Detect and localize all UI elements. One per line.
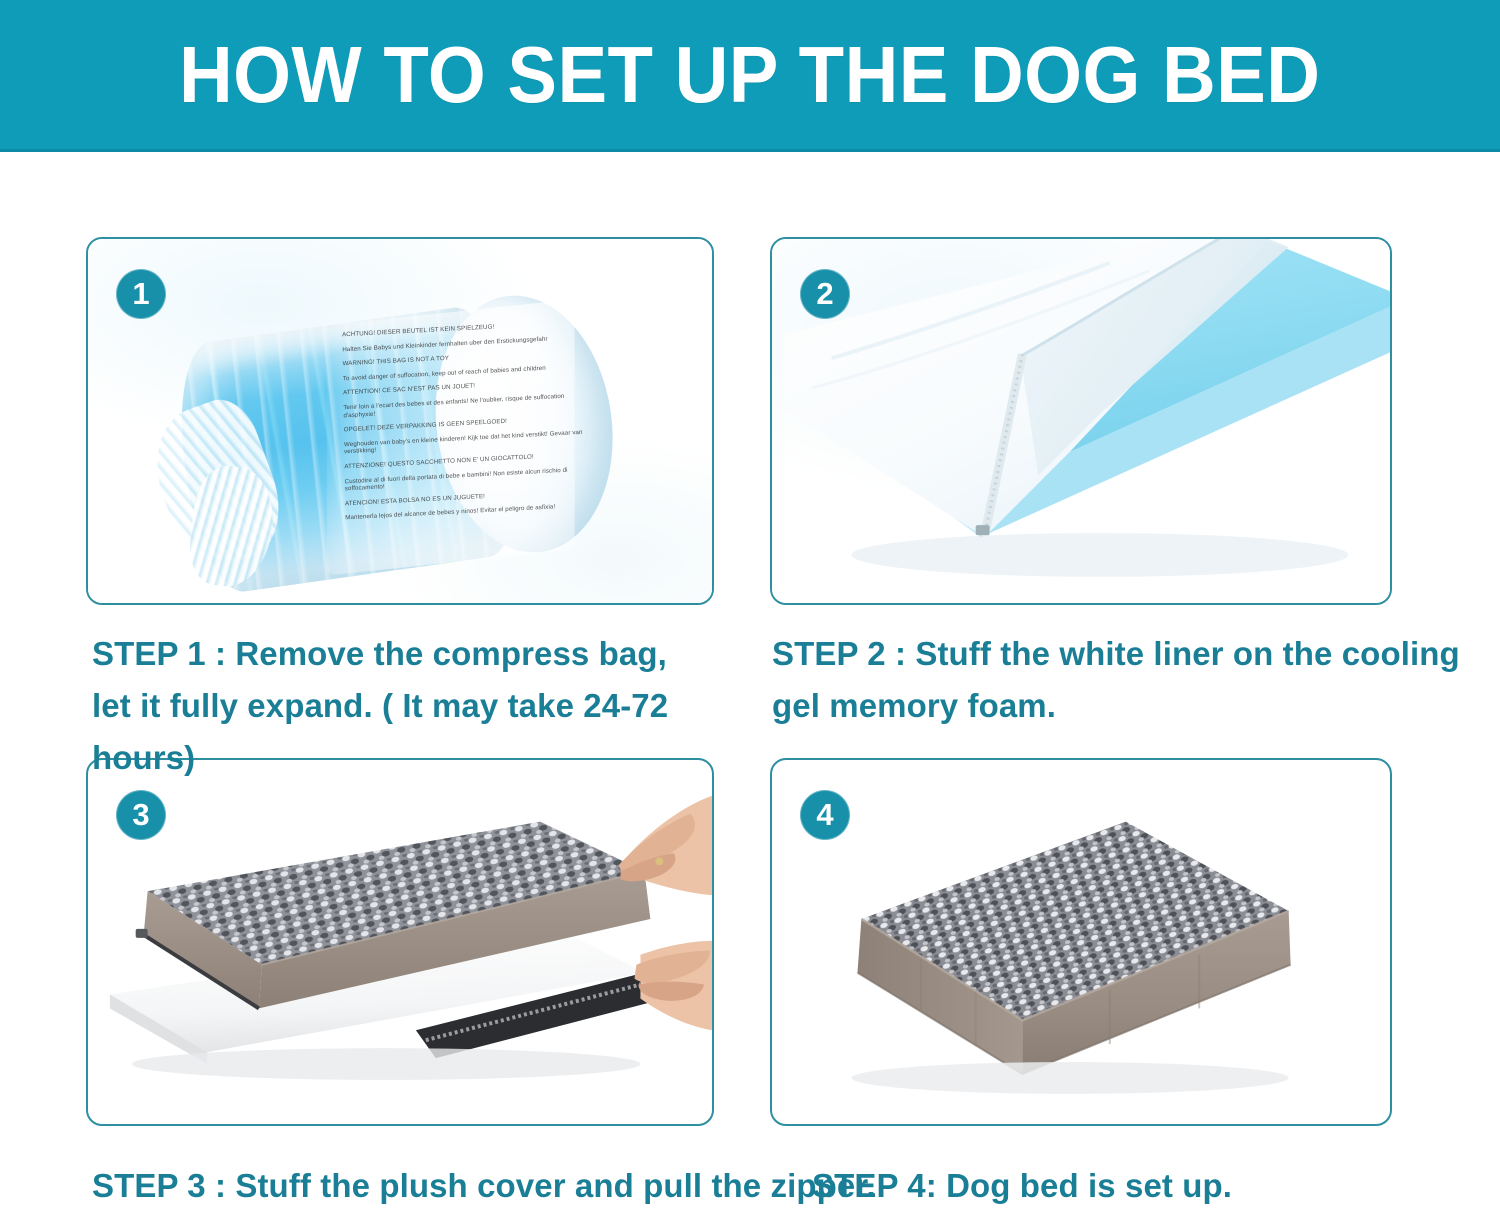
step-number-badge-4: 4 — [800, 790, 850, 840]
cover-zipper-pull — [136, 929, 148, 938]
step-3-caption: STEP 3 : Stuff the plush cover and pull … — [92, 1160, 876, 1212]
page-title: HOW TO SET UP THE DOG BED — [179, 35, 1321, 115]
rolled-foam-bag: ACHTUNG! DIESER BEUTEL IST KEIN SPIELZEU… — [157, 264, 634, 605]
hand-upper-right — [619, 796, 712, 895]
stuffing-plush-cover-illustration — [88, 760, 712, 1126]
hand-lower-right — [634, 941, 711, 1030]
bed-drop-shadow — [132, 1048, 641, 1080]
step-3-image-panel: 3 — [86, 758, 714, 1126]
step-1-caption: STEP 1 : Remove the compress bag, let it… — [92, 628, 752, 784]
step-2-image-panel: 2 — [770, 237, 1392, 605]
step-number-badge-3: 3 — [116, 790, 166, 840]
step-4-image-panel: 4 — [770, 758, 1392, 1126]
header-banner: HOW TO SET UP THE DOG BED — [0, 0, 1500, 152]
bag-warning-text: ACHTUNG! DIESER BEUTEL IST KEIN SPIELZEU… — [342, 318, 596, 555]
dog-bed-drop-shadow — [851, 1062, 1288, 1094]
compressed-bag-illustration: ACHTUNG! DIESER BEUTEL IST KEIN SPIELZEU… — [88, 239, 712, 603]
step-number-badge-2: 2 — [800, 269, 850, 319]
step-1-image-panel: ACHTUNG! DIESER BEUTEL IST KEIN SPIELZEU… — [86, 237, 714, 605]
zipper-pull — [976, 525, 990, 535]
finished-dog-bed-illustration — [772, 760, 1390, 1126]
step-4-caption: STEP 4: Dog bed is set up. — [812, 1160, 1232, 1212]
foam-drop-shadow — [851, 533, 1348, 577]
ring-on-finger — [655, 857, 663, 865]
liner-over-foam-illustration — [772, 239, 1390, 605]
step-2-caption: STEP 2 : Stuff the white liner on the co… — [772, 628, 1472, 732]
step-number-badge-1: 1 — [116, 269, 166, 319]
